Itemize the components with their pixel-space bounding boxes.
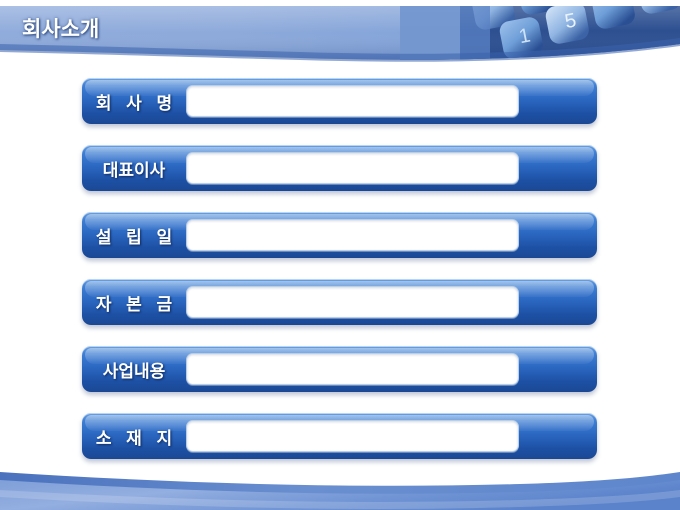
row-input-company-name[interactable] — [186, 85, 519, 117]
table-row[interactable]: 회 사 명 — [82, 78, 597, 124]
table-row[interactable]: 소 재 지 — [82, 413, 597, 459]
form-rows: 회 사 명 대표이사 설 립 일 자 본 금 사업내용 소 재 지 — [0, 0, 680, 510]
footer-band-shape — [0, 466, 680, 510]
table-row[interactable]: 자 본 금 — [82, 279, 597, 325]
slide-canvas: 4 8 1 5 9 회사소개 회 사 명 대표이사 — [0, 0, 680, 510]
row-label-business-content: 사업내용 — [82, 357, 186, 382]
row-input-location[interactable] — [186, 420, 519, 452]
row-input-established-date[interactable] — [186, 219, 519, 251]
row-input-ceo[interactable] — [186, 152, 519, 184]
slide-footer — [0, 466, 680, 510]
row-input-business-content[interactable] — [186, 353, 519, 385]
table-row[interactable]: 설 립 일 — [82, 212, 597, 258]
row-label-capital: 자 본 금 — [82, 290, 186, 315]
table-row[interactable]: 대표이사 — [82, 145, 597, 191]
row-label-established-date: 설 립 일 — [82, 223, 186, 248]
row-label-location: 소 재 지 — [82, 424, 186, 449]
row-label-ceo: 대표이사 — [82, 156, 186, 181]
row-input-capital[interactable] — [186, 286, 519, 318]
table-row[interactable]: 사업내용 — [82, 346, 597, 392]
row-label-company-name: 회 사 명 — [82, 89, 186, 114]
page-title: 회사소개 — [22, 13, 99, 43]
